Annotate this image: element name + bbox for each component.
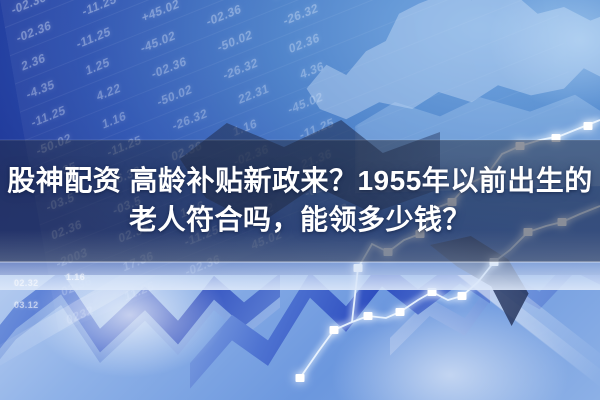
headline-block: 股神配资 高龄补贴新政来？1955年以前出生的 老人符合吗，能领多少钱？ <box>0 140 600 262</box>
news-banner: -02.36+45.0221.36-11.25-50.02-02.36-11.2… <box>0 0 600 400</box>
chart-node <box>584 122 593 130</box>
chart-node <box>330 326 339 334</box>
mini-ticker-value: 1.16 <box>66 272 85 282</box>
mini-ticker-value: 03.12 <box>14 300 39 310</box>
chart-node <box>396 308 405 316</box>
chart-node <box>296 374 305 382</box>
chart-node <box>458 292 467 300</box>
chart-node <box>364 312 373 320</box>
mini-ticker-value: 02.32 <box>14 278 39 288</box>
headline-line-1: 股神配资 高龄补贴新政来？1955年以前出生的 <box>7 166 593 197</box>
headline-line-2: 老人符合吗，能领多少钱？ <box>129 205 471 236</box>
